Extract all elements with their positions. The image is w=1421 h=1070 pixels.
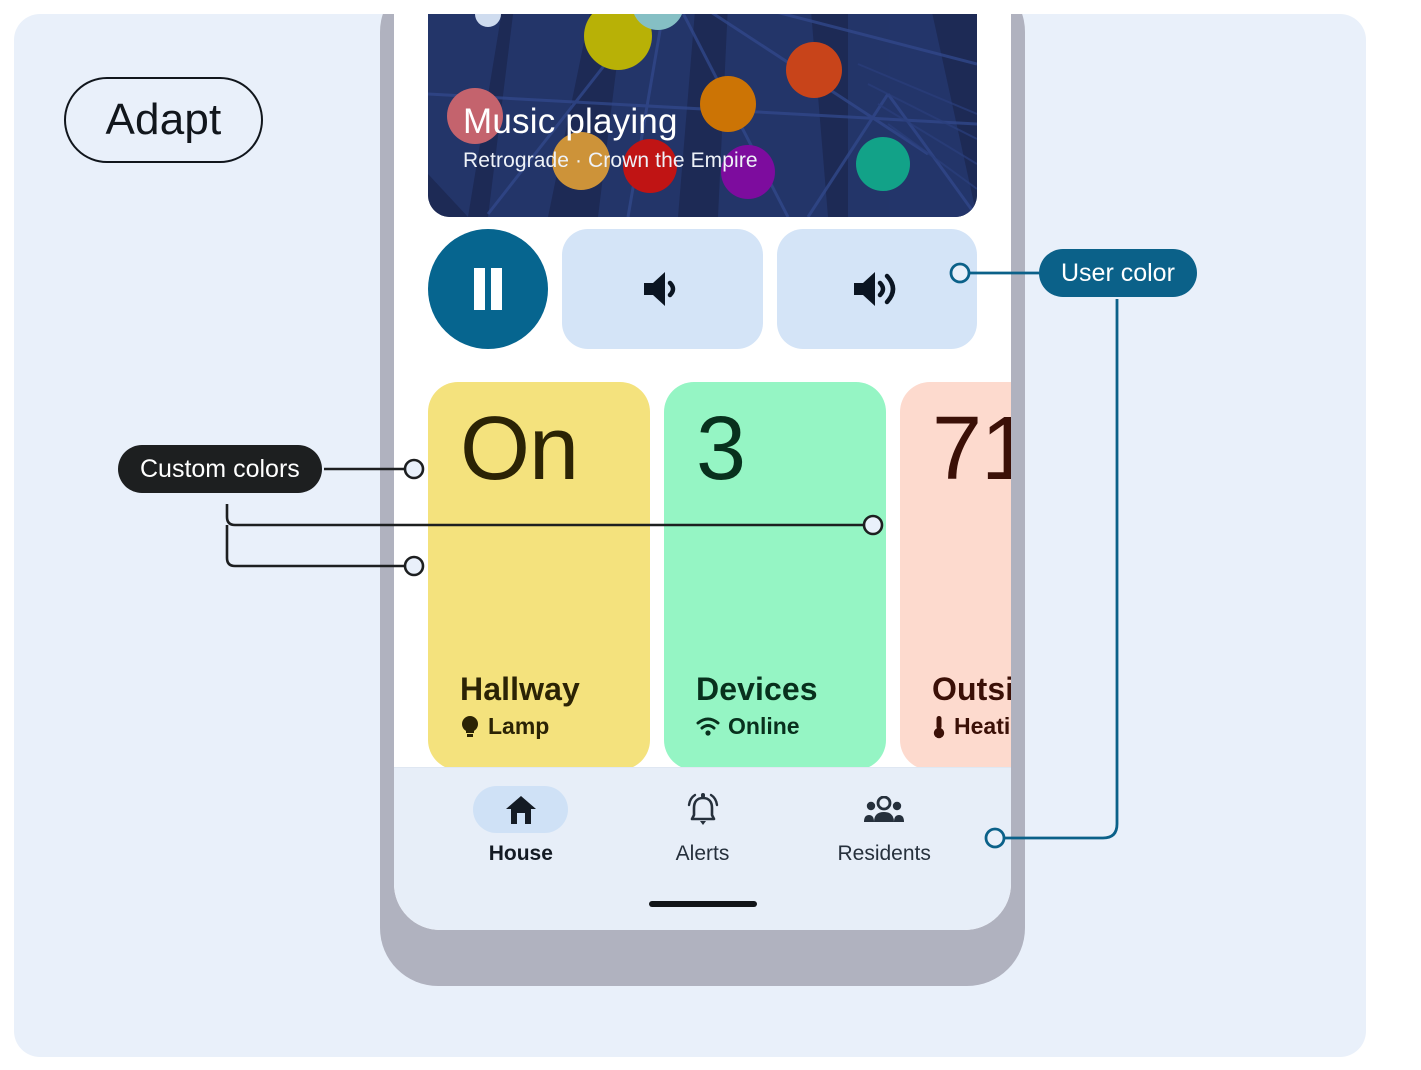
people-group-icon: [863, 796, 905, 824]
annotation-label: User color: [1061, 259, 1175, 288]
tile-value: 71: [932, 404, 1011, 494]
nav-icon-wrap: [655, 786, 750, 833]
now-playing-title: Music playing: [463, 104, 758, 141]
thermometer-icon: [932, 715, 946, 739]
tile-status-label: Heating: [954, 713, 1011, 740]
tile-value: 3: [696, 404, 856, 494]
tile-value: On: [460, 404, 620, 494]
media-controls: [428, 229, 977, 349]
phone-device-frame: 3 speakers Music playing Retrograde · Cr…: [380, 14, 1025, 986]
bottom-navigation: House: [394, 767, 1011, 930]
pause-button[interactable]: [428, 229, 548, 349]
nav-label: House: [489, 842, 553, 866]
screenshot-stage: Adapt: [0, 0, 1421, 1070]
annotation-label: Custom colors: [140, 455, 300, 484]
lightbulb-icon: [460, 715, 480, 739]
tile-footer: Devices Online: [696, 672, 856, 740]
tile-hallway[interactable]: On Hallway Lamp: [428, 382, 650, 770]
tile-title: Outside: [932, 672, 1011, 707]
adapt-badge-label: Adapt: [106, 95, 222, 145]
bell-ring-icon: [684, 793, 722, 827]
nav-label: Alerts: [676, 842, 730, 866]
tile-status: Online: [696, 713, 856, 740]
tile-title: Devices: [696, 672, 856, 707]
pause-icon: [470, 268, 506, 310]
wifi-icon: [696, 717, 720, 737]
design-canvas: Adapt: [14, 14, 1366, 1057]
home-indicator: [649, 901, 757, 907]
adapt-badge: Adapt: [64, 77, 263, 163]
nav-item-residents[interactable]: Residents: [793, 786, 975, 866]
now-playing-subtitle: Retrograde · Crown the Empire: [463, 149, 758, 173]
status-tiles: On Hallway Lamp: [428, 382, 1011, 770]
tile-outside[interactable]: 71 Outside Heating: [900, 382, 1011, 770]
volume-up-icon: [850, 269, 904, 309]
tile-status-label: Lamp: [488, 713, 549, 740]
nav-item-alerts[interactable]: Alerts: [612, 786, 794, 866]
nav-active-pill: [473, 786, 568, 833]
nav-icon-wrap: [837, 786, 932, 833]
tile-status: Heating: [932, 713, 1011, 740]
volume-down-button[interactable]: [562, 229, 763, 349]
tile-title: Hallway: [460, 672, 620, 707]
now-playing-text: Music playing Retrograde · Crown the Emp…: [463, 104, 758, 173]
now-playing-card[interactable]: 3 speakers Music playing Retrograde · Cr…: [428, 14, 977, 217]
volume-up-button[interactable]: [777, 229, 978, 349]
volume-down-icon: [640, 270, 684, 308]
home-icon: [505, 795, 537, 825]
tile-footer: Hallway Lamp: [460, 672, 620, 740]
tile-devices[interactable]: 3 Devices Online: [664, 382, 886, 770]
annotation-custom-colors: Custom colors: [118, 445, 322, 493]
annotation-user-color: User color: [1039, 249, 1197, 297]
tile-status: Lamp: [460, 713, 620, 740]
phone-screen: 3 speakers Music playing Retrograde · Cr…: [394, 14, 1011, 930]
nav-items: House: [430, 786, 975, 866]
tile-footer: Outside Heating: [932, 672, 1011, 740]
nav-label: Residents: [837, 842, 930, 866]
tile-status-label: Online: [728, 713, 800, 740]
nav-item-house[interactable]: House: [430, 786, 612, 866]
